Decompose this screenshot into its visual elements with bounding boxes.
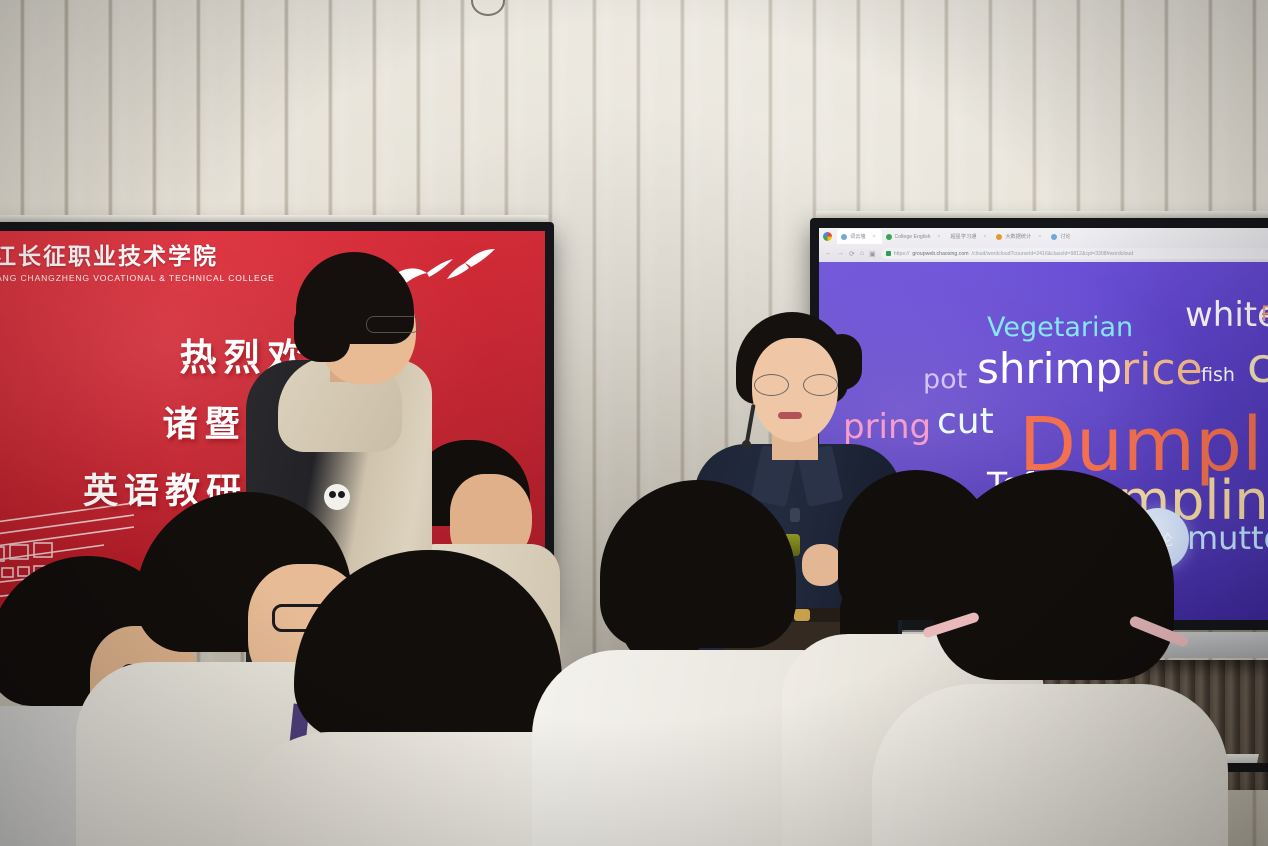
word-cloud-word[interactable]: pot (923, 366, 967, 393)
tab-title: 讨论 (1060, 233, 1070, 240)
lips (778, 412, 802, 419)
word-cloud-word[interactable]: Vegetarian (987, 314, 1133, 341)
browser-tab-3[interactable]: 大数据统计 × (992, 229, 1047, 244)
tab-favicon-icon (996, 234, 1002, 240)
hair (934, 470, 1174, 680)
tabs-icon[interactable]: ▣ (869, 250, 876, 258)
url-host: groupweb.chaoxing.com (912, 251, 968, 257)
back-icon[interactable]: ← (825, 250, 832, 257)
reload-icon[interactable]: ⟳ (849, 250, 855, 258)
browser-tab-2[interactable]: 超星学习通 × (946, 229, 992, 244)
browser-tab-4[interactable]: 讨论 (1047, 229, 1076, 244)
tab-close-icon[interactable]: × (1038, 234, 1041, 240)
word-cloud-word[interactable]: mutton (1187, 522, 1268, 554)
college-logo: 浙江长征职业技术学院 ZHEJIANG CHANGZHENG VOCATIONA… (0, 237, 275, 283)
word-cloud-word[interactable]: shrimp (977, 348, 1122, 390)
glasses-icon (754, 374, 838, 394)
browser-chrome: 词云墙 × College English × 超星学习通 × 大数据统 (819, 228, 1268, 262)
word-cloud-word[interactable]: ch (1247, 342, 1268, 390)
browser-tabstrip[interactable]: 词云墙 × College English × 超星学习通 × 大数据统 (819, 228, 1268, 245)
tab-title: College English (895, 234, 931, 240)
hair (294, 550, 562, 740)
forward-icon[interactable]: → (837, 250, 844, 257)
tab-favicon-icon (886, 234, 892, 240)
foreground-student-6 (916, 470, 1186, 846)
tab-title: 大数据统计 (1005, 233, 1031, 240)
word-cloud-word[interactable]: rice (1121, 348, 1203, 392)
word-cloud-word[interactable]: white (1185, 298, 1268, 332)
url-scheme: https:// (894, 251, 910, 257)
college-name-en: ZHEJIANG CHANGZHENG VOCATIONAL & TECHNIC… (0, 273, 275, 283)
word-cloud-word[interactable]: cut (937, 404, 994, 440)
url-path: /cloud/wordcloud?courseId=2416&classId=9… (972, 251, 1134, 257)
tab-close-icon[interactable]: × (938, 234, 941, 240)
url-host-text: groupweb.chaoxing.com (912, 251, 968, 257)
tab-title: 超星学习通 (950, 233, 976, 240)
word-cloud-word[interactable]: fish (1201, 366, 1235, 385)
browser-logo-icon (823, 232, 832, 241)
address-bar[interactable]: https:// groupweb.chaoxing.com /cloud/wo… (881, 248, 1268, 259)
home-icon[interactable]: ⌂ (860, 250, 864, 257)
browser-tab-0[interactable]: 词云墙 × (837, 229, 882, 244)
classroom-photo: 浙江长征职业技术学院 ZHEJIANG CHANGZHENG VOCATIONA… (0, 0, 1268, 846)
secure-lock-icon (886, 251, 891, 256)
headset-mic-tip-icon (742, 440, 751, 449)
hair-side (294, 296, 350, 362)
word-cloud-word[interactable]: Ro (1261, 304, 1268, 325)
browser-omnibar[interactable]: ← → ⟳ ⌂ ▣ https:// groupweb.chaoxing.com… (819, 245, 1268, 262)
glasses-icon (366, 316, 420, 333)
white-fleece (872, 684, 1228, 846)
college-name-cn: 浙江长征职业技术学院 (0, 237, 275, 271)
browser-tab-1[interactable]: College English × (882, 229, 947, 244)
tab-favicon-icon (841, 234, 847, 240)
tab-close-icon[interactable]: × (873, 234, 876, 240)
tab-close-icon[interactable]: × (983, 234, 986, 240)
tab-favicon-icon (1051, 234, 1057, 240)
tab-title: 词云墙 (850, 233, 866, 240)
